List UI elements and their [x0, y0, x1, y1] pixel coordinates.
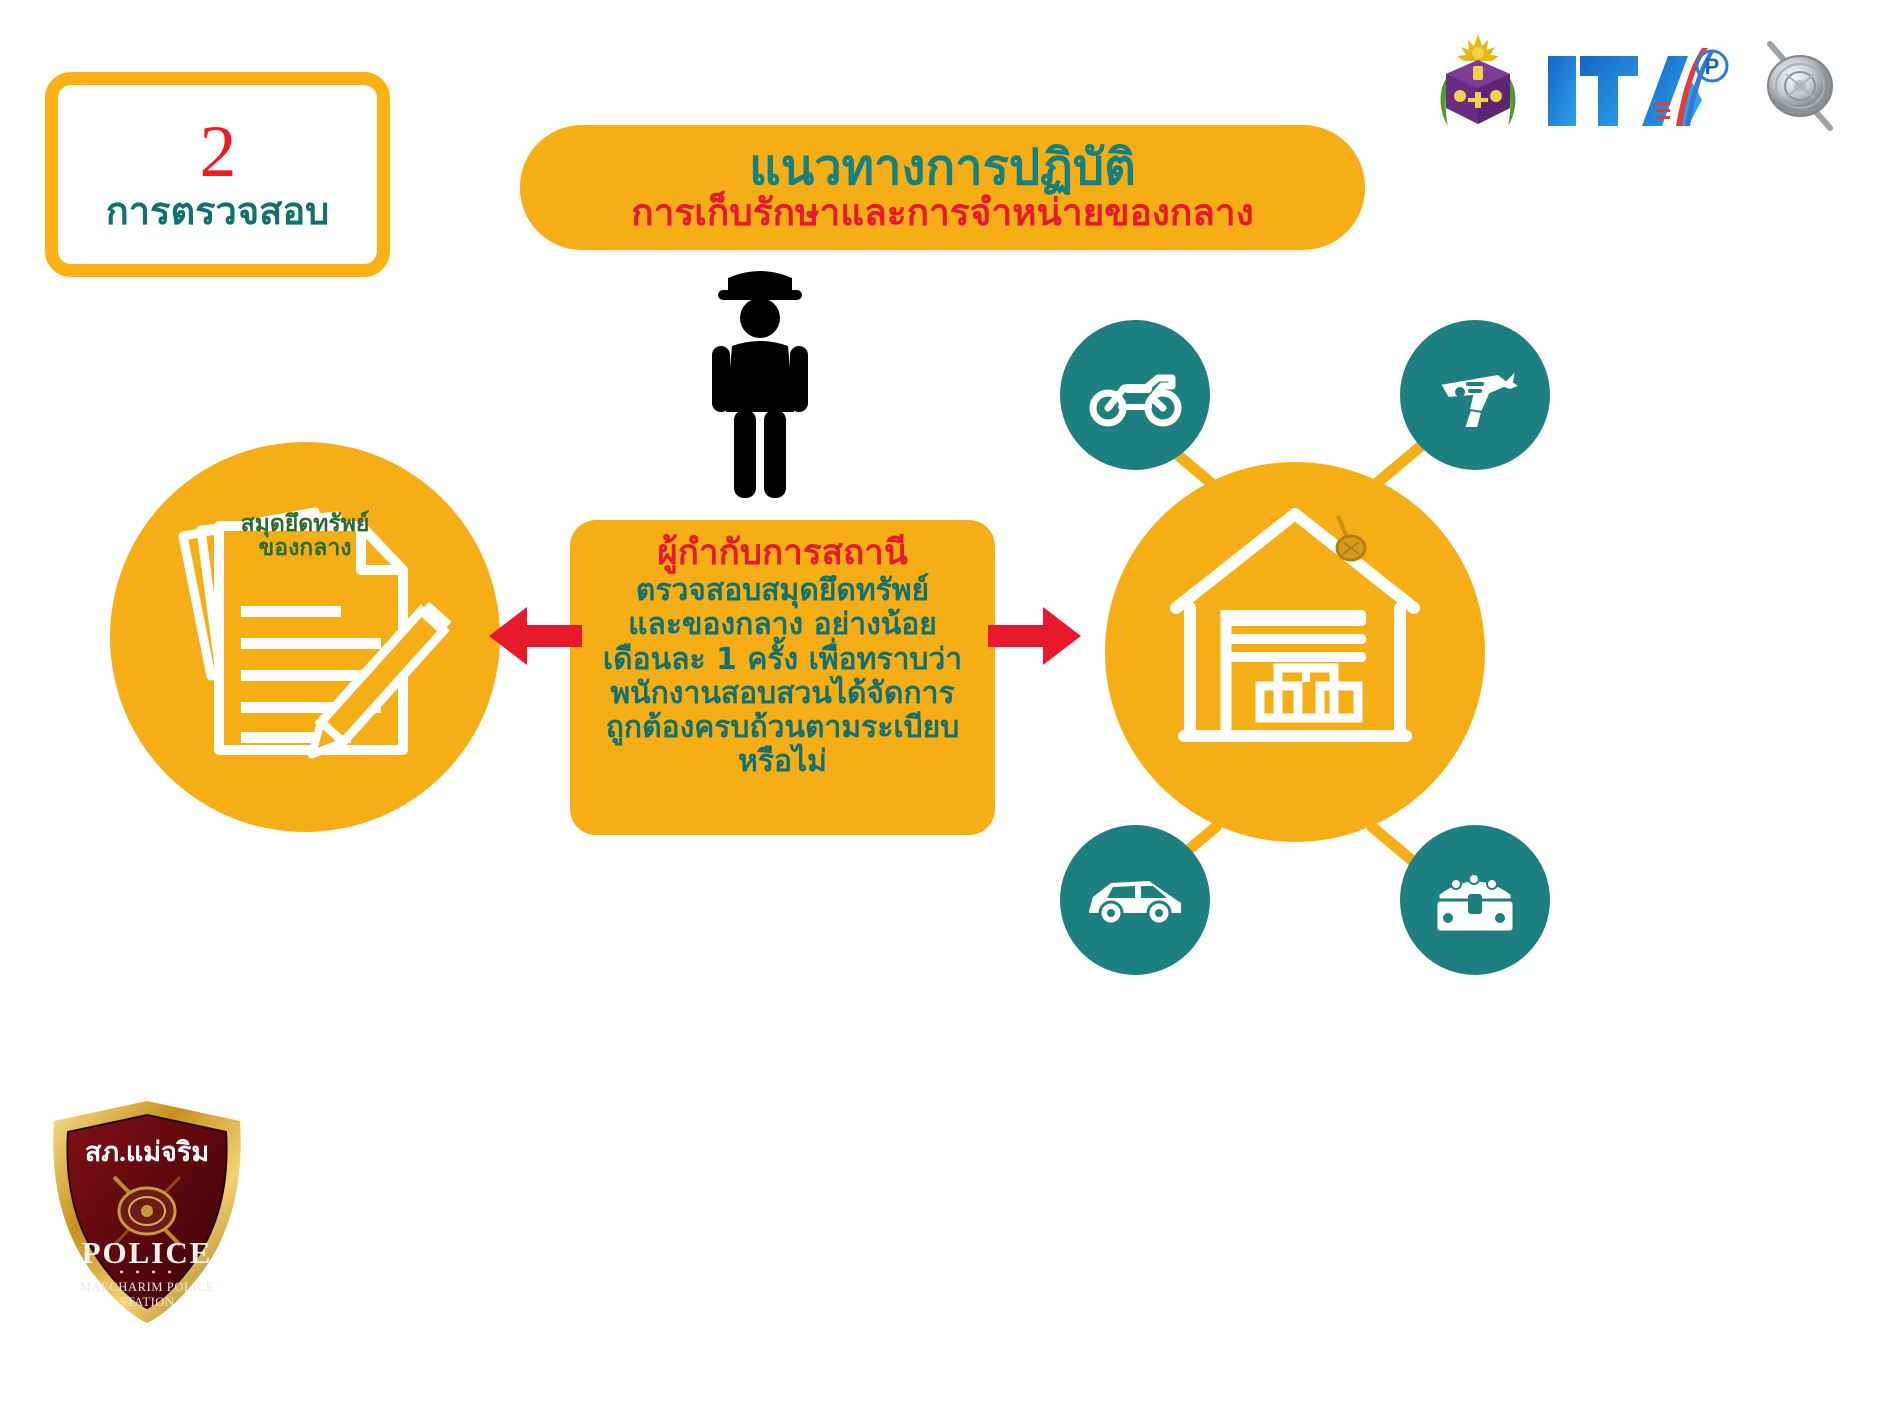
header-banner: แนวทางการปฏิบัติ การเก็บรักษาและการจำหน่… [520, 125, 1365, 250]
car-icon [1083, 869, 1187, 931]
treasure-chest-icon [1426, 860, 1524, 940]
badge-dots: • • • • [118, 1266, 175, 1279]
step-badge: 2 การตรวจสอบ [45, 72, 390, 277]
silver-police-badge-emblem-icon [1750, 30, 1850, 142]
royal-thai-police-emblem-icon [1432, 30, 1524, 142]
banner-title-main: แนวทางการปฏิบัติ [749, 143, 1136, 192]
step-label: การตรวจสอบ [106, 192, 330, 232]
logo-row: P [1432, 28, 1850, 143]
node-car [1060, 825, 1210, 975]
badge-police-word: POLICE [82, 1235, 213, 1270]
center-card-line-6: หรือไม่ [738, 745, 827, 779]
motorcycle-icon [1088, 360, 1183, 430]
center-card: ผู้กำกับการสถานี ตรวจสอบสมุดยึดทรัพย์ แล… [570, 520, 995, 835]
ita-logo-icon: P [1542, 30, 1732, 142]
node-gun [1400, 320, 1550, 470]
center-card-line-2: และของกลาง อย่างน้อย [628, 608, 937, 642]
center-card-line-5: ถูกต้องครบถ้วนตามระเบียบ [606, 711, 959, 745]
arrow-right-icon [988, 605, 1083, 667]
police-officer-figure-icon [690, 262, 830, 502]
banner-title-sub: การเก็บรักษาและการจำหน่ายของกลาง [631, 194, 1254, 233]
evidence-storage-warehouse-icon [1160, 500, 1430, 760]
center-card-line-4: พนักงานสอบสวนได้จัดการ [610, 677, 954, 711]
center-card-line-3: เดือนละ 1 ครั้ง เพื่อทราบว่า [603, 643, 962, 677]
badge-station-english-2: STATION [119, 1295, 174, 1309]
center-card-title: ผู้กำกับการสถานี [657, 534, 908, 573]
badge-station-thai: สภ.แม่จริม [85, 1137, 209, 1167]
gun-icon [1428, 356, 1523, 434]
center-card-line-1: ตรวจสอบสมุดยึดทรัพย์ [636, 574, 929, 608]
svg-text:P: P [1705, 54, 1720, 79]
node-treasure [1400, 825, 1550, 975]
node-motorcycle [1060, 320, 1210, 470]
badge-station-english-1: MAECHARIM POLICE [80, 1280, 214, 1294]
arrow-left-icon [487, 605, 582, 667]
step-number: 2 [200, 117, 236, 187]
police-station-badge: สภ.แม่จริม POLICE • • • • MAECHARIM POLI… [40, 1095, 255, 1330]
evidence-book-icon [165, 500, 455, 775]
